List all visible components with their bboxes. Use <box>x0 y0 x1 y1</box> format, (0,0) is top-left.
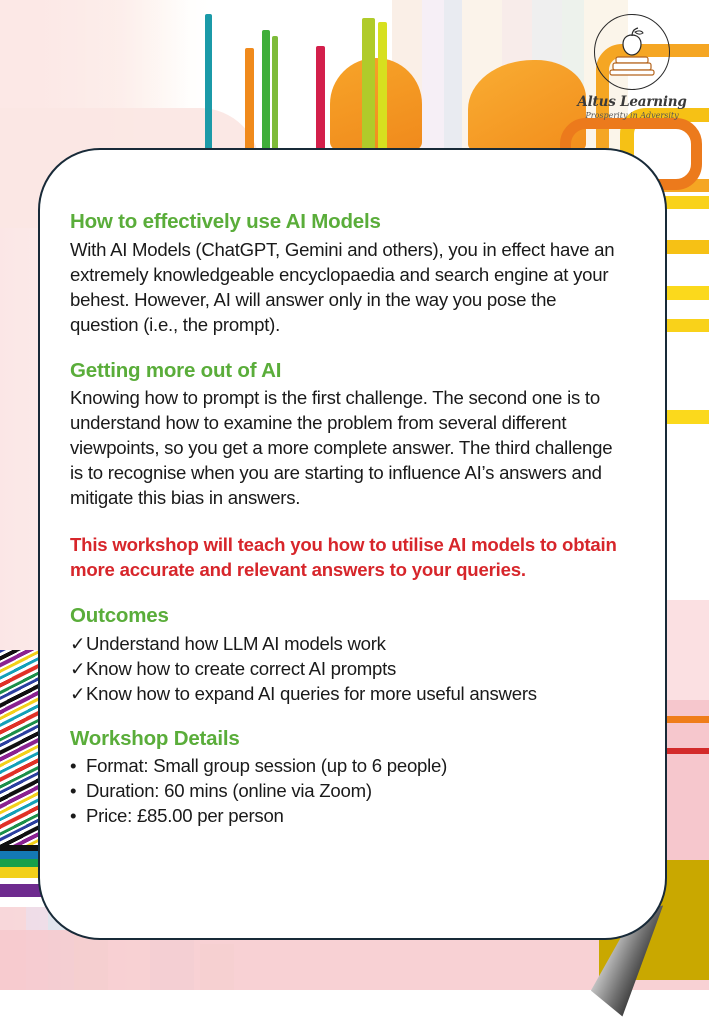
workshop-details-list: •Format: Small group session (up to 6 pe… <box>70 753 617 828</box>
list-item-label: Know how to create correct AI prompts <box>86 658 396 679</box>
poster-canvas: Altus Learning Prosperity in Adversity H… <box>0 0 709 1024</box>
list-marker: • <box>70 778 86 803</box>
section-getting-more-out-of-ai: Getting more out of AI Knowing how to pr… <box>70 359 617 511</box>
outcome-item: ✓Know how to create correct AI prompts <box>70 656 617 681</box>
brand-logo: Altus Learning Prosperity in Adversity <box>573 14 691 120</box>
list-item-label: Price: £85.00 per person <box>86 805 284 826</box>
workshop-details-heading: Workshop Details <box>70 727 617 752</box>
outcomes-heading: Outcomes <box>70 604 617 629</box>
section-outcomes: Outcomes ✓Understand how LLM AI models w… <box>70 604 617 706</box>
section-heading: Getting more out of AI <box>70 359 617 384</box>
brand-tagline: Prosperity in Adversity <box>573 111 691 120</box>
section-how-to-use-ai: How to effectively use AI Models With AI… <box>70 210 617 337</box>
list-item-label: Understand how LLM AI models work <box>86 633 386 654</box>
list-marker: ✓ <box>70 631 86 656</box>
content-card: How to effectively use AI Models With AI… <box>38 148 667 940</box>
section-heading: How to effectively use AI Models <box>70 210 617 235</box>
list-marker: • <box>70 753 86 778</box>
list-marker: ✓ <box>70 656 86 681</box>
list-item-label: Format: Small group session (up to 6 peo… <box>86 755 447 776</box>
section-body: Knowing how to prompt is the first chall… <box>70 385 617 510</box>
list-marker: • <box>70 803 86 828</box>
outcome-item: ✓Know how to expand AI queries for more … <box>70 681 617 706</box>
section-workshop-details: Workshop Details •Format: Small group se… <box>70 727 617 829</box>
section-body: With AI Models (ChatGPT, Gemini and othe… <box>70 237 617 337</box>
list-marker: ✓ <box>70 681 86 706</box>
list-item-label: Duration: 60 mins (online via Zoom) <box>86 780 372 801</box>
outcome-item: ✓Understand how LLM AI models work <box>70 631 617 656</box>
workshop-detail-item: •Duration: 60 mins (online via Zoom) <box>70 778 617 803</box>
workshop-callout: This workshop will teach you how to util… <box>70 532 617 582</box>
workshop-detail-item: •Price: £85.00 per person <box>70 803 617 828</box>
apple-on-books-icon <box>594 14 670 90</box>
callout-text: This workshop will teach you how to util… <box>70 532 617 582</box>
workshop-detail-item: •Format: Small group session (up to 6 pe… <box>70 753 617 778</box>
outcomes-list: ✓Understand how LLM AI models work✓Know … <box>70 631 617 706</box>
list-item-label: Know how to expand AI queries for more u… <box>86 683 537 704</box>
brand-name: Altus Learning <box>573 94 691 110</box>
